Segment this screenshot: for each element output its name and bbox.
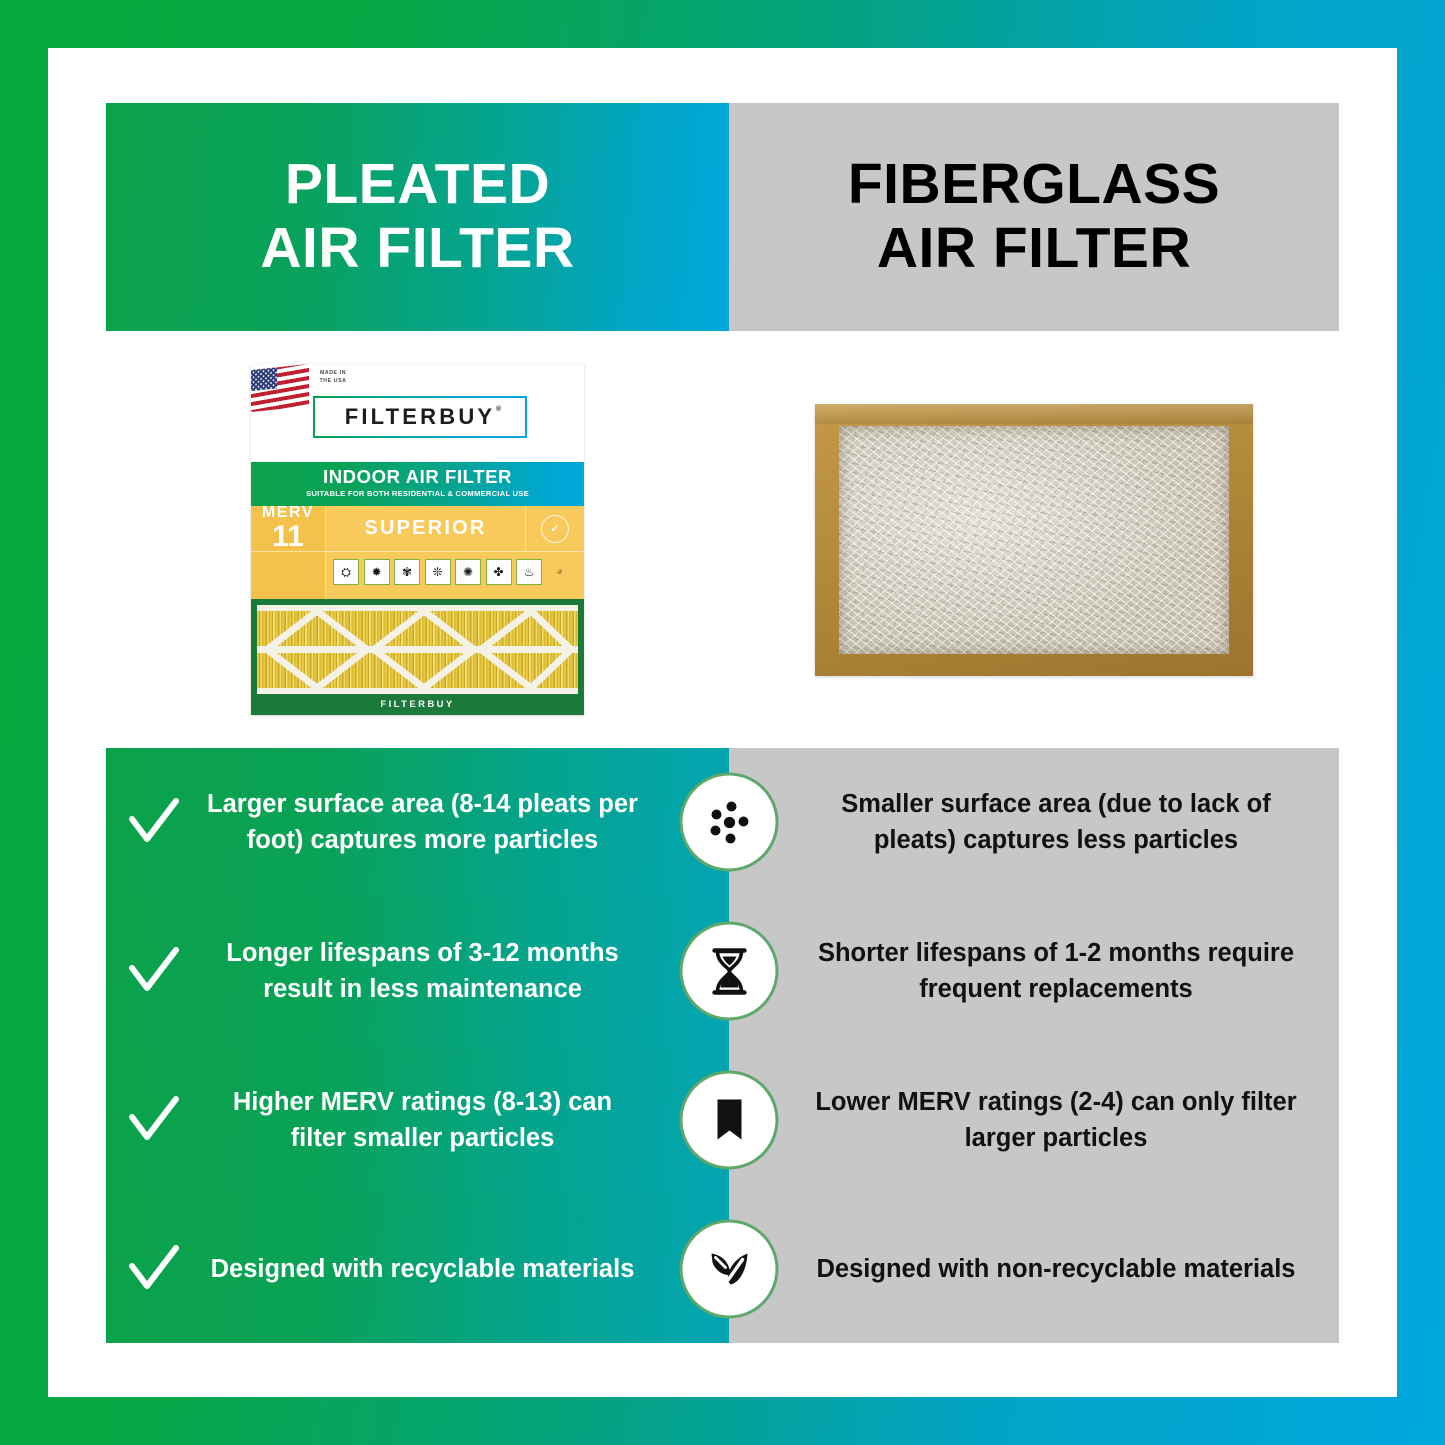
row-right-fiberglass: Designed with non-recyclable materials: [729, 1194, 1339, 1343]
row-right-fiberglass: Shorter lifespans of 1-2 months require …: [729, 897, 1339, 1046]
header-row: PLEATED AIR FILTER FIBERGLASS AIR FILTER: [106, 103, 1339, 331]
checkmark-icon: [106, 795, 202, 849]
row-right-fiberglass: Smaller surface area (due to lack of ple…: [729, 748, 1339, 897]
box-pleat-window: FILTERBUY: [251, 599, 584, 715]
checkmark-icon: [106, 1093, 202, 1147]
merv-badge: MERV 11: [251, 506, 326, 551]
tile-bacteria-faded-icon: ◕: [548, 559, 572, 583]
row-right-text: Designed with non-recyclable materials: [733, 1251, 1336, 1287]
tile-mold-spores-icon: ✺: [455, 559, 481, 585]
merv-badge-extension: [251, 552, 326, 600]
certification-seal-cell: ✓: [526, 506, 584, 551]
comparison-row: Longer lifespans of 3-12 months result i…: [106, 897, 1339, 1046]
header-fiberglass-line1: FIBERGLASS: [848, 152, 1220, 216]
made-in-usa-label: MADE IN THE USA: [313, 370, 353, 386]
white-card: PLEATED AIR FILTER FIBERGLASS AIR FILTER: [48, 48, 1397, 1397]
content-area: PLEATED AIR FILTER FIBERGLASS AIR FILTER: [106, 103, 1339, 1343]
product-row: MADE IN THE USA FILTERBUY® INDOOR AIR FI…: [106, 331, 1339, 748]
header-pleated: PLEATED AIR FILTER: [106, 103, 729, 331]
comparison-row: Higher MERV ratings (8-13) can filter sm…: [106, 1046, 1339, 1195]
pleated-product-cell: MADE IN THE USA FILTERBUY® INDOOR AIR FI…: [106, 331, 729, 748]
filterbuy-logo: FILTERBUY®: [313, 396, 527, 438]
box-indoor-band: INDOOR AIR FILTER SUITABLE FOR BOTH RESI…: [251, 462, 584, 506]
fiberglass-filter-image: [815, 404, 1253, 676]
row-left-text: Higher MERV ratings (8-13) can filter sm…: [202, 1084, 729, 1156]
bookmark-rating-icon: [680, 1070, 779, 1169]
tile-dust-icon: ⛭: [333, 559, 359, 585]
leaf-eco-icon: [680, 1219, 779, 1318]
row-left-text: Designed with recyclable materials: [202, 1251, 729, 1287]
tile-bacteria-icon: ✾: [394, 559, 420, 585]
particles-icon: [680, 773, 779, 872]
row-right-text: Smaller surface area (due to lack of ple…: [729, 786, 1339, 858]
header-pleated-line2: AIR FILTER: [260, 216, 574, 280]
checkmark-icon: [106, 1242, 202, 1296]
row-right-fiberglass: Lower MERV ratings (2-4) can only filter…: [729, 1046, 1339, 1195]
filterbuy-box-image: MADE IN THE USA FILTERBUY® INDOOR AIR FI…: [251, 364, 584, 715]
box-band-subtitle: SUITABLE FOR BOTH RESIDENTIAL & COMMERCI…: [251, 489, 584, 498]
box-gold-panel: MERV 11 SUPERIOR ✓: [251, 506, 584, 599]
usa-flag-icon: [251, 364, 309, 412]
tile-pollen-icon: ❊: [425, 559, 451, 585]
row-left-text: Larger surface area (8-14 pleats per foo…: [202, 786, 729, 858]
grade-label: SUPERIOR: [326, 506, 526, 551]
header-pleated-line1: PLEATED: [285, 152, 550, 216]
row-right-text: Lower MERV ratings (2-4) can only filter…: [729, 1084, 1339, 1156]
hourglass-icon: [680, 922, 779, 1021]
row-left-pleated: Higher MERV ratings (8-13) can filter sm…: [106, 1046, 729, 1195]
flag-canton: [251, 367, 277, 391]
pleat-media: [257, 605, 578, 694]
tile-smoke-icon: ♨: [516, 559, 542, 585]
tile-pet-dander-icon: ✤: [486, 559, 512, 585]
merv-label: MERV: [262, 505, 314, 521]
fiberglass-mesh: [839, 426, 1229, 654]
filterbuy-logo-text: FILTERBUY: [345, 404, 496, 429]
registered-mark: ®: [496, 406, 504, 413]
certification-seal-icon: ✓: [541, 515, 569, 543]
fiberglass-product-cell: [729, 331, 1339, 748]
box-band-title: INDOOR AIR FILTER: [251, 465, 584, 488]
row-left-pleated: Designed with recyclable materials: [106, 1194, 729, 1343]
comparison-row: Larger surface area (8-14 pleats per foo…: [106, 748, 1339, 897]
infographic-page: PLEATED AIR FILTER FIBERGLASS AIR FILTER: [0, 0, 1445, 1445]
box-top-white-panel: MADE IN THE USA FILTERBUY®: [251, 364, 584, 462]
comparison-row: Designed with recyclable materials Desig…: [106, 1194, 1339, 1343]
filtration-icon-tiles: ⛭ ✹ ✾ ❊ ✺ ✤ ♨ ◕ ❦: [333, 559, 584, 585]
row-left-text: Longer lifespans of 3-12 months result i…: [202, 935, 729, 1007]
header-fiberglass-line2: AIR FILTER: [877, 216, 1191, 280]
checkmark-icon: [106, 944, 202, 998]
box-footer-brand: FILTERBUY: [257, 694, 578, 710]
tile-virus-faded-icon: ❦: [578, 559, 584, 583]
comparison-section: Larger surface area (8-14 pleats per foo…: [106, 748, 1339, 1343]
row-right-text: Shorter lifespans of 1-2 months require …: [729, 935, 1339, 1007]
diamond-support-grid: [257, 605, 578, 694]
header-fiberglass: FIBERGLASS AIR FILTER: [729, 103, 1339, 331]
tile-dust-mite-icon: ✹: [364, 559, 390, 585]
merv-value: 11: [272, 522, 304, 552]
row-left-pleated: Larger surface area (8-14 pleats per foo…: [106, 748, 729, 897]
row-left-pleated: Longer lifespans of 3-12 months result i…: [106, 897, 729, 1046]
